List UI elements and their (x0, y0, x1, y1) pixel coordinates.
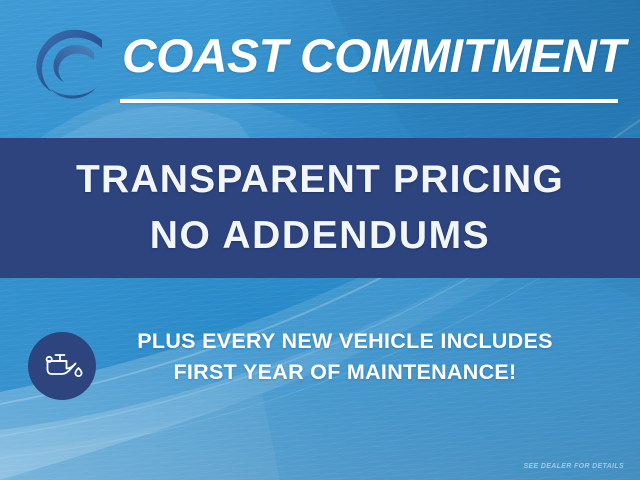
promo-row: PLUS EVERY NEW VEHICLE INCLUDES FIRST YE… (0, 318, 640, 414)
disclaimer-text: SEE DEALER FOR DETAILS (523, 463, 624, 470)
oil-can-icon (40, 349, 84, 383)
header-divider (120, 99, 618, 103)
coast-wave-logo-svg (24, 22, 120, 104)
headline-band: TRANSPARENT PRICING NO ADDENDUMS (0, 138, 640, 278)
promo-line-2: FIRST YEAR OF MAINTENANCE! (110, 357, 580, 388)
oil-can-badge (28, 332, 96, 400)
coast-wave-logo-icon (24, 22, 120, 104)
promo-line-1: PLUS EVERY NEW VEHICLE INCLUDES (110, 326, 580, 357)
promo-text-block: PLUS EVERY NEW VEHICLE INCLUDES FIRST YE… (110, 326, 580, 388)
headline-line-2: NO ADDENDUMS (150, 208, 491, 264)
coast-commitment-banner: COAST COMMITMENT TRANSPARENT PRICING NO … (0, 0, 640, 480)
headline-line-1: TRANSPARENT PRICING (76, 152, 564, 208)
banner-header: COAST COMMITMENT (0, 0, 640, 138)
brand-title: COAST COMMITMENT (122, 24, 632, 88)
